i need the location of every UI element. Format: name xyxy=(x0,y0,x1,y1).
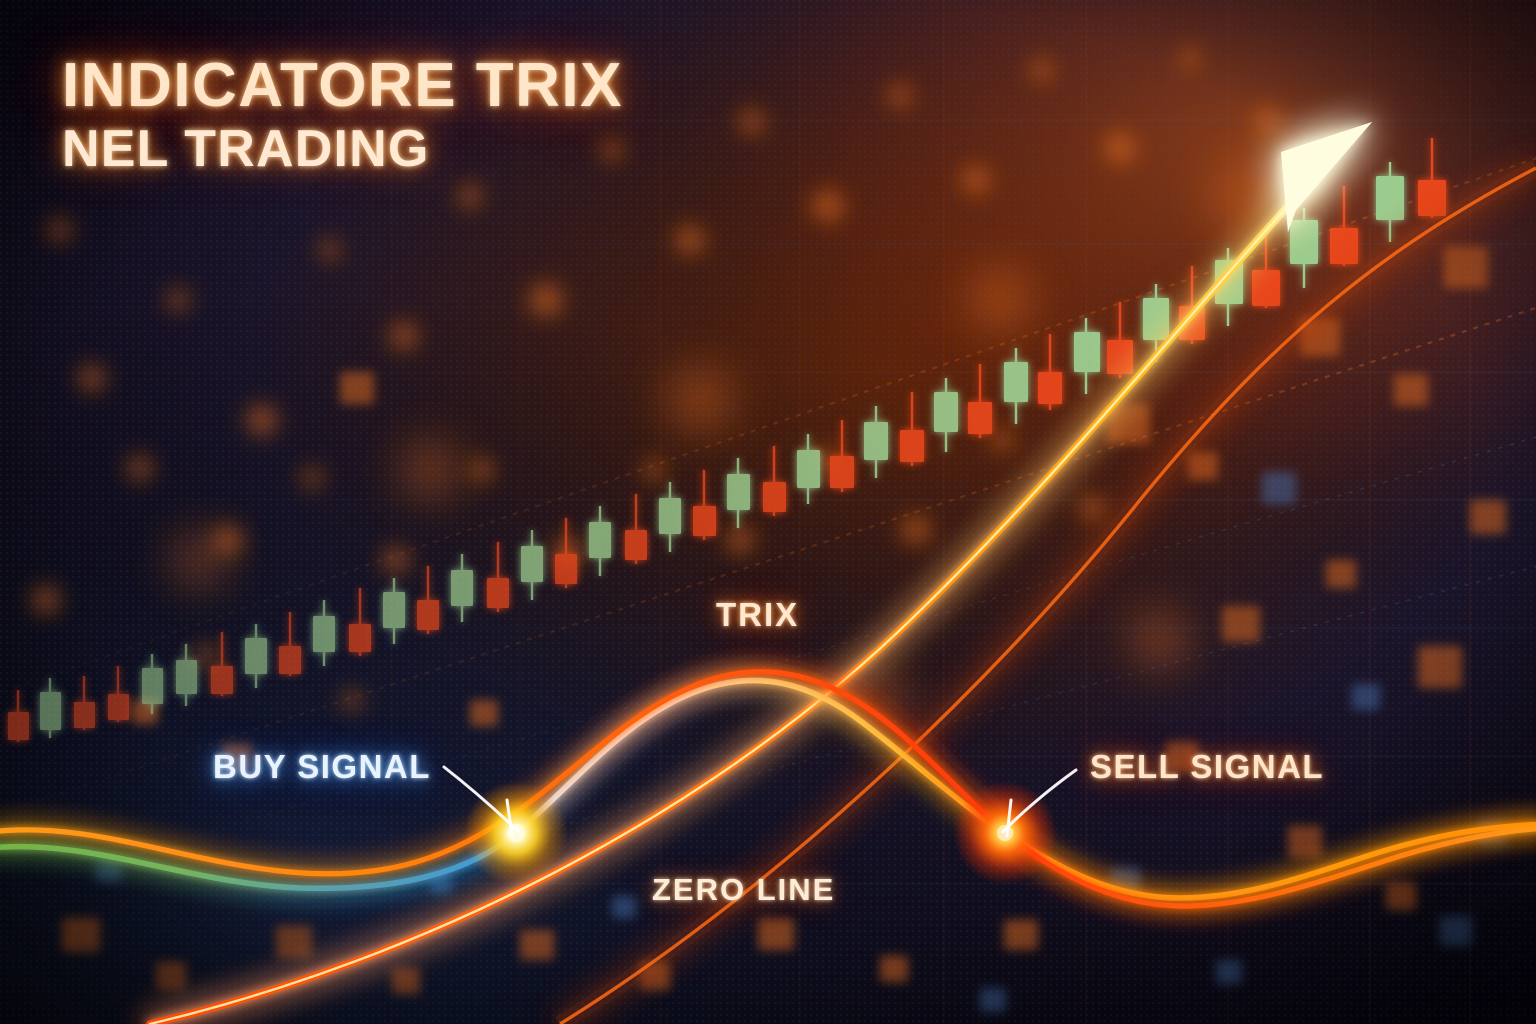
title-line-2: NEL TRADING xyxy=(62,123,623,176)
buy-signal-label: BUY SIGNAL xyxy=(213,748,431,786)
signal-line xyxy=(0,672,1536,906)
title-line-1: INDICATORE TRIX xyxy=(62,54,623,117)
trix-label: TRIX xyxy=(716,596,799,634)
page-title: INDICATORE TRIX NEL TRADING xyxy=(62,54,623,176)
trix-infographic: INDICATORE TRIX NEL TRADING TRIX BUY SIG… xyxy=(0,0,1536,1024)
zero-line-label: ZERO LINE xyxy=(652,872,835,908)
sell-signal-label: SELL SIGNAL xyxy=(1090,748,1324,786)
